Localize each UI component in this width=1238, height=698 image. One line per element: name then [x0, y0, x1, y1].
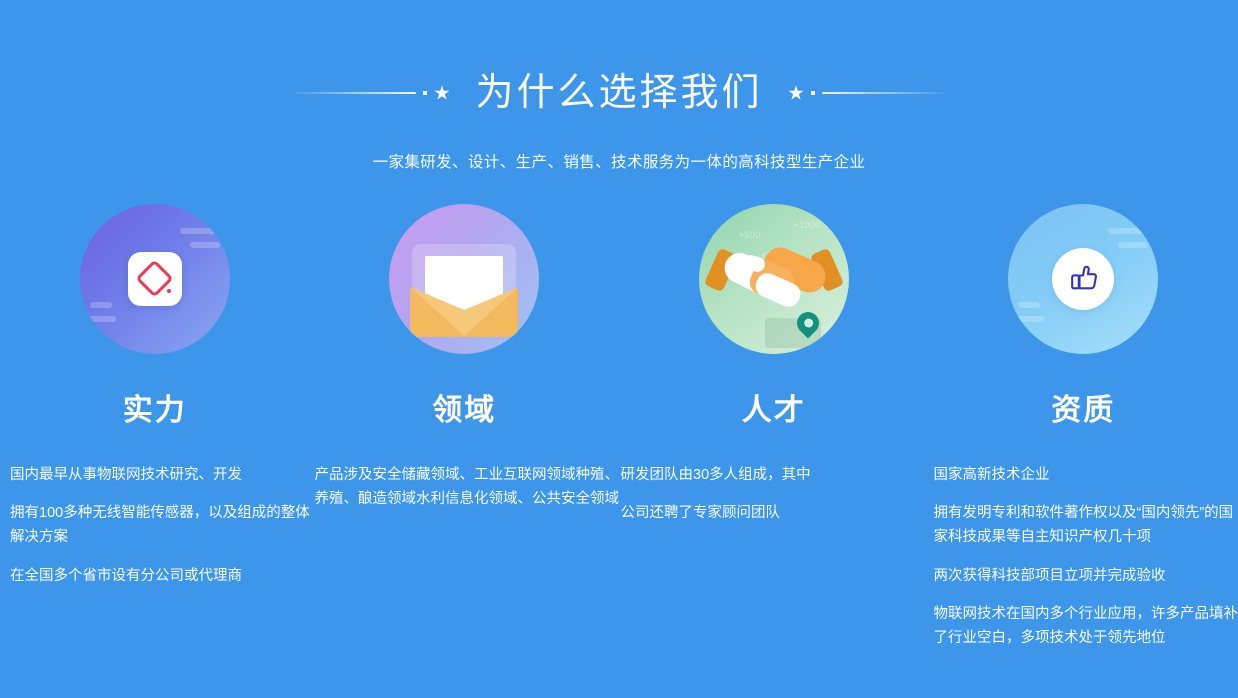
section-header: 为什么选择我们 一家集研发、设计、生产、销售、技术服务为一体的高科技型生产企业	[0, 0, 1238, 172]
body-text: 国家高新技术企业	[934, 463, 1238, 487]
column-body: 产品涉及安全储藏领域、工业互联网领域种殖、养殖、酿造领域水利信息化领域、公共安全…	[299, 448, 631, 525]
body-text: 公司还聘了专家顾问团队	[621, 501, 931, 525]
feature-column-qualification: 资质 国家高新技术企业 拥有发明专利和软件著作权以及“国内领先”的国家科技成果等…	[929, 204, 1238, 664]
star-icon-right	[789, 86, 804, 101]
handshake-icon: +500 +1000 +300	[699, 204, 849, 354]
title-row: 为什么选择我们	[0, 62, 1238, 124]
accent-line	[90, 302, 112, 308]
body-text: 拥有发明专利和软件著作权以及“国内领先”的国家科技成果等自主知识产权几十项	[934, 501, 1238, 549]
feature-column-strength: 实力 国内最早从事物联网技术研究、开发 拥有100多种无线智能传感器，以及组成的…	[0, 204, 310, 664]
body-text: 拥有100多种无线智能传感器，以及组成的整体解决方案	[10, 501, 320, 549]
column-heading: 领域	[432, 396, 496, 426]
ornament-line-left	[294, 92, 416, 94]
accent-line	[1008, 316, 1044, 322]
accent-line	[180, 228, 230, 234]
column-heading: 人才	[742, 396, 806, 426]
feature-columns: 实力 国内最早从事物联网技术研究、开发 拥有100多种无线智能传感器，以及组成的…	[0, 204, 1238, 664]
accent-line	[1108, 228, 1158, 234]
thumbs-up-icon	[1008, 204, 1158, 354]
white-tile	[128, 252, 182, 306]
ornament-dot-right	[811, 91, 815, 95]
diamond-dot	[167, 289, 171, 293]
body-text: 研发团队由30多人组成，其中	[621, 463, 931, 487]
accent-line	[1018, 302, 1040, 308]
column-body: 国内最早从事物联网技术研究、开发 拥有100多种无线智能传感器，以及组成的整体解…	[0, 448, 336, 602]
column-heading: 实力	[123, 396, 187, 426]
body-text: 两次获得科技部项目立项并完成验收	[934, 564, 1238, 588]
star-icon-left	[434, 86, 449, 101]
accent-line	[190, 242, 220, 248]
metric-mark: +500	[739, 230, 761, 240]
ornament-line-right	[822, 92, 944, 94]
accent-line	[1118, 242, 1148, 248]
accent-line	[80, 316, 116, 322]
column-body: 研发团队由30多人组成，其中 公司还聘了专家顾问团队	[606, 448, 943, 539]
thumb-glyph-icon	[1068, 262, 1100, 294]
page-title: 为什么选择我们	[475, 74, 762, 112]
body-text: 物联网技术在国内多个行业应用，许多产品填补了行业空白，多项技术处于领先地位	[934, 602, 1238, 650]
ornament-left	[294, 83, 449, 103]
icon-circle-3: +500 +1000 +300	[699, 204, 849, 354]
body-text: 国内最早从事物联网技术研究、开发	[10, 463, 320, 487]
envelope-letter-icon	[389, 204, 539, 354]
ornament-dot-left	[423, 91, 427, 95]
feature-column-talent: +500 +1000 +300 人才 研发团队由30多人组成，其中 公司	[619, 204, 929, 664]
diamond-badge-icon	[80, 204, 230, 354]
why-choose-us-section: 为什么选择我们 一家集研发、设计、生产、销售、技术服务为一体的高科技型生产企业	[0, 0, 1238, 698]
body-text: 在全国多个省市设有分公司或代理商	[10, 564, 320, 588]
section-subtitle: 一家集研发、设计、生产、销售、技术服务为一体的高科技型生产企业	[0, 150, 1238, 172]
feature-column-fields: 领域 产品涉及安全储藏领域、工业互联网领域种殖、养殖、酿造领域水利信息化领域、公…	[310, 204, 620, 664]
body-text: 产品涉及安全储藏领域、工业互联网领域种殖、养殖、酿造领域水利信息化领域、公共安全…	[315, 463, 625, 511]
metric-mark: +1000	[793, 220, 821, 230]
icon-circle-2	[389, 204, 539, 354]
ornament-right	[789, 83, 944, 103]
column-body: 国家高新技术企业 拥有发明专利和软件著作权以及“国内领先”的国家科技成果等自主知…	[918, 448, 1238, 664]
column-heading: 资质	[1051, 396, 1115, 426]
